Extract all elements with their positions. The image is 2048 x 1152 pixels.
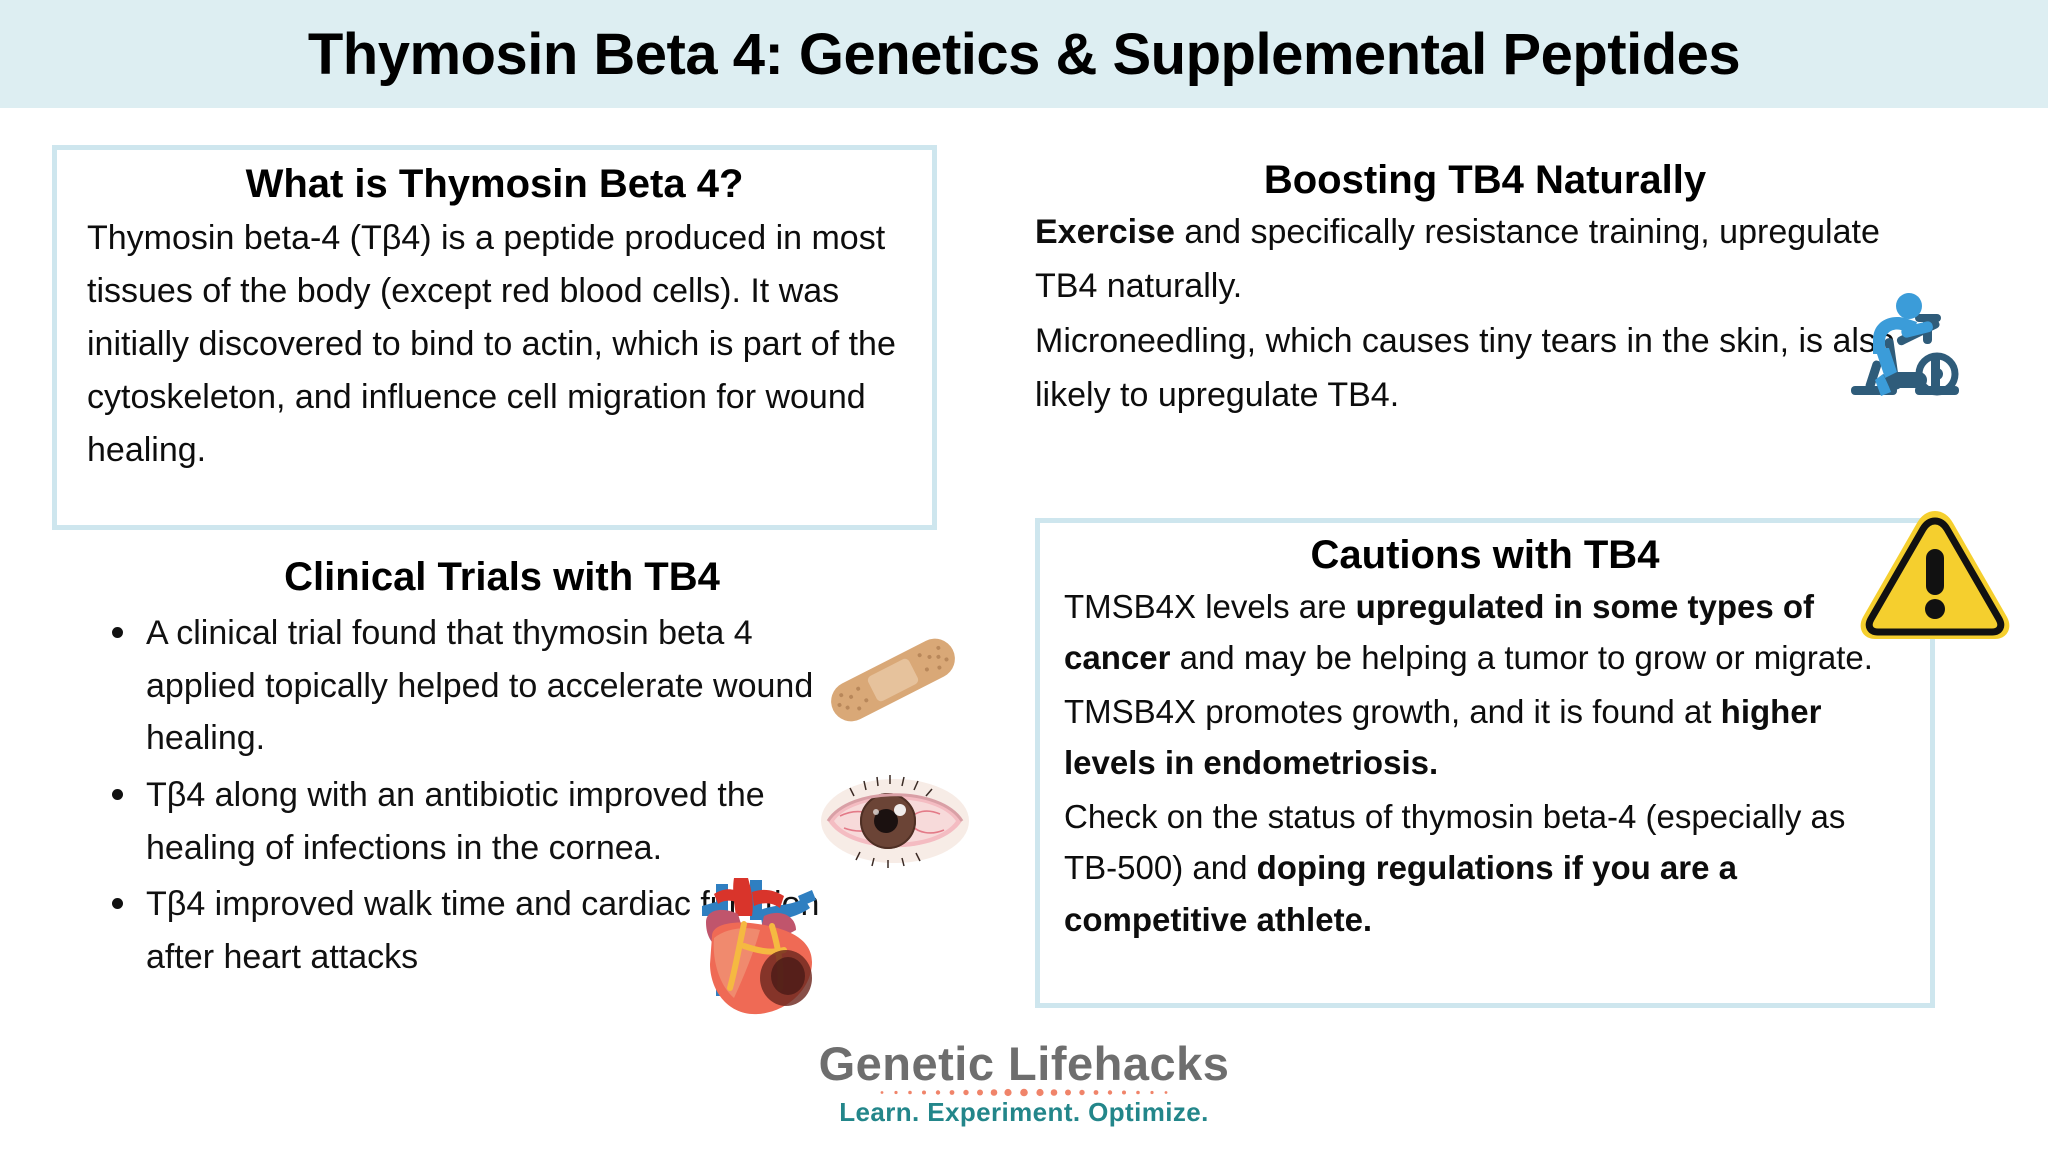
panel-title-what-is: What is Thymosin Beta 4?	[87, 162, 902, 206]
panel-what-is-thymosin-beta-4: What is Thymosin Beta 4? Thymosin beta-4…	[52, 145, 937, 530]
brand-name: Genetic Lifehacks	[0, 1040, 2048, 1087]
red-eye-icon	[820, 768, 970, 874]
boosting-paragraph-1: Exercise and specifically resistance tra…	[1035, 206, 1935, 313]
cautions-p1-c: and may be helping a tumor to grow or mi…	[1170, 639, 1873, 676]
page-title: Thymosin Beta 4: Genetics & Supplemental…	[0, 0, 2048, 108]
panel-body-boosting: Exercise and specifically resistance tra…	[1035, 206, 1935, 423]
brand-tagline: Learn. Experiment. Optimize.	[0, 1098, 2048, 1127]
cautions-p2-a: TMSB4X promotes growth, and it is found …	[1064, 693, 1721, 730]
footer-logo: Genetic Lifehacks Learn. Experiment. Opt…	[0, 1040, 2048, 1127]
exercise-bike-icon	[1845, 288, 1967, 400]
cautions-paragraph-1: TMSB4X levels are upregulated in some ty…	[1064, 581, 1906, 684]
list-item: Tβ4 along with an antibiotic improved th…	[112, 769, 856, 874]
panel-title-boosting: Boosting TB4 Naturally	[1035, 158, 1935, 202]
cautions-paragraph-2: TMSB4X promotes growth, and it is found …	[1064, 686, 1906, 789]
cautions-p1-a: TMSB4X levels are	[1064, 588, 1356, 625]
boosting-exercise-bold: Exercise	[1035, 213, 1175, 251]
what-is-paragraph: Thymosin beta-4 (Tβ4) is a peptide produ…	[87, 212, 902, 477]
panel-body-cautions: TMSB4X levels are upregulated in some ty…	[1064, 581, 1906, 945]
panel-title-cautions: Cautions with TB4	[1064, 533, 1906, 577]
boosting-paragraph-2: Microneedling, which causes tiny tears i…	[1035, 315, 1935, 422]
list-item: A clinical trial found that thymosin bet…	[112, 607, 856, 765]
panel-boosting-tb4-naturally: Boosting TB4 Naturally Exercise and spec…	[1035, 150, 1935, 440]
anatomical-heart-icon	[700, 876, 830, 1018]
cautions-paragraph-3: Check on the status of thymosin beta-4 (…	[1064, 791, 1906, 945]
panel-cautions-with-tb4: Cautions with TB4 TMSB4X levels are upre…	[1035, 518, 1935, 1008]
panel-body-what-is: Thymosin beta-4 (Tβ4) is a peptide produ…	[87, 212, 902, 477]
warning-triangle-icon	[1855, 505, 2015, 645]
panel-title-clinical: Clinical Trials with TB4	[52, 555, 952, 599]
bandage-icon	[820, 628, 966, 732]
